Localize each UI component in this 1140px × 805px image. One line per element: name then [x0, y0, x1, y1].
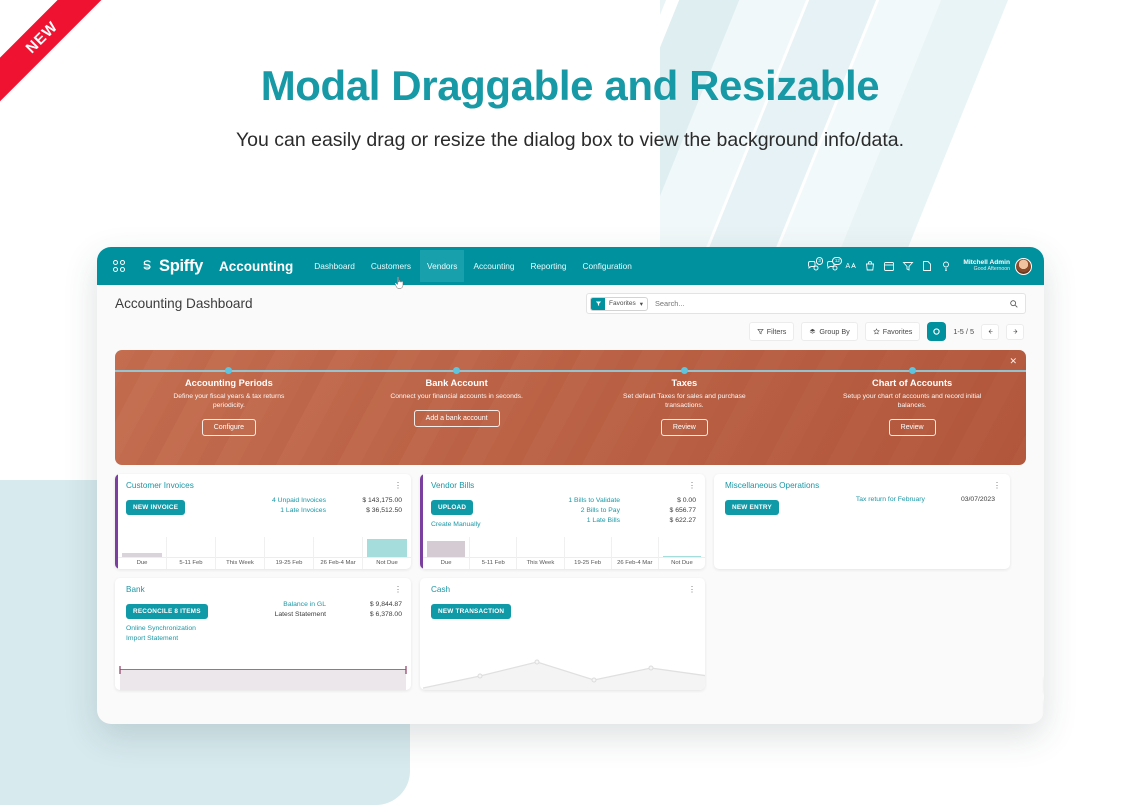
misc-entry-label[interactable]: Tax return for February: [856, 496, 925, 503]
translate-icon[interactable]: A: [845, 260, 857, 272]
step-desc: Define your fiscal years & tax returns p…: [159, 392, 299, 410]
kebab-menu-icon[interactable]: ⋮: [993, 483, 1001, 488]
card-bank[interactable]: Bank ⋮ RECONCILE 8 ITEMS Online Synchron…: [115, 578, 411, 690]
card-title: Bank: [126, 585, 145, 594]
new-ribbon: NEW: [0, 0, 118, 118]
stat-labels: 4 Unpaid Invoices 1 Late Invoices: [202, 496, 340, 516]
new-invoice-button[interactable]: NEW INVOICE: [126, 500, 185, 515]
stat-label[interactable]: 4 Unpaid Invoices: [202, 496, 326, 506]
onboarding-steps: Accounting Periods Define your fiscal ye…: [115, 350, 1026, 465]
search-facet-favorites[interactable]: Favorites ▾: [590, 297, 648, 311]
card-body: NEW ENTRY Tax return for February 03/07/…: [714, 490, 1010, 515]
kanban-view-icon[interactable]: [927, 322, 946, 341]
chart-customer-invoices: Due 5-11 Feb This Week 19-25 Feb 26 Feb-…: [118, 537, 411, 569]
stat-value: $ 9,844.87: [340, 600, 402, 610]
step-desc: Setup your chart of accounts and record …: [842, 392, 982, 410]
bar-label: 5-11 Feb: [470, 557, 516, 569]
stat-value: $ 622.27: [634, 516, 696, 526]
card-header: Bank ⋮: [115, 578, 411, 594]
stat-label[interactable]: 1 Late Invoices: [202, 506, 326, 516]
bar-label: 26 Feb-4 Mar: [314, 557, 362, 569]
stat-label[interactable]: 1 Late Bills: [496, 516, 620, 526]
bar-column: 26 Feb-4 Mar: [314, 537, 363, 569]
card-links: Create Manually: [431, 520, 481, 530]
search-input[interactable]: [648, 299, 1009, 308]
bar-column: Due: [423, 537, 470, 569]
step-desc: Connect your financial accounts in secon…: [387, 392, 527, 401]
previous-page-button[interactable]: [981, 324, 999, 340]
card-vendor-bills[interactable]: Vendor Bills ⋮ UPLOAD Create Manually 1 …: [420, 474, 705, 569]
stat-label[interactable]: 1 Bills to Validate: [496, 496, 620, 506]
apps-grid-icon[interactable]: [113, 260, 125, 272]
stat-values: $ 0.00 $ 656.77 $ 622.27: [634, 496, 696, 530]
nav-item-configuration[interactable]: Configuration: [576, 250, 639, 282]
nav-item-vendors[interactable]: Vendors: [420, 250, 464, 282]
bar-column: 19-25 Feb: [265, 537, 314, 569]
stat-label[interactable]: 2 Bills to Pay: [496, 506, 620, 516]
messages-badge: 3: [816, 257, 824, 265]
step-title: Accounting Periods: [115, 378, 343, 388]
step-dot: [681, 367, 688, 374]
breadcrumb: Accounting Dashboard: [115, 296, 253, 311]
step-title: Bank Account: [343, 378, 571, 388]
star-icon: [873, 328, 880, 335]
chevron-down-icon[interactable]: ▾: [640, 300, 647, 308]
bar-label: Due: [423, 557, 469, 569]
bar-label: This Week: [517, 557, 563, 569]
nav-item-dashboard[interactable]: Dashboard: [307, 250, 362, 282]
arrow-right-icon: [1012, 328, 1019, 335]
bar-label: 26 Feb-4 Mar: [612, 557, 658, 569]
online-synchronization-link[interactable]: Online Synchronization: [126, 624, 208, 634]
bar-column: 5-11 Feb: [470, 537, 517, 569]
bar-label: 19-25 Feb: [565, 557, 611, 569]
card-title: Vendor Bills: [431, 481, 474, 490]
user-menu[interactable]: Mitchell Admin Good Afternoon: [963, 258, 1032, 275]
search-facet-label: Favorites: [605, 300, 640, 307]
card-header: Customer Invoices ⋮: [115, 474, 411, 490]
search-bar[interactable]: Favorites ▾: [586, 293, 1026, 314]
card-miscellaneous-operations[interactable]: Miscellaneous Operations ⋮ NEW ENTRY Tax…: [714, 474, 1010, 569]
onboarding-step-chart-of-accounts: Chart of Accounts Setup your chart of ac…: [798, 350, 1026, 465]
bar-column: Not Due: [363, 537, 411, 569]
card-stats: 4 Unpaid Invoices 1 Late Invoices $ 143,…: [202, 496, 402, 516]
dashboard-card-grid: Customer Invoices ⋮ NEW INVOICE 4 Unpaid…: [97, 465, 1044, 690]
card-title: Cash: [431, 585, 450, 594]
bar-label: Not Due: [659, 557, 705, 569]
shopping-bag-icon[interactable]: [864, 260, 876, 272]
nav-item-reporting[interactable]: Reporting: [524, 250, 574, 282]
layers-icon: [809, 328, 816, 335]
mouse-cursor-icon: [393, 276, 405, 290]
configure-button[interactable]: Configure: [202, 419, 256, 436]
bar-label: Not Due: [363, 557, 411, 569]
kebab-menu-icon[interactable]: ⋮: [394, 587, 402, 592]
bar-column: Due: [118, 537, 167, 569]
bar-label: 19-25 Feb: [265, 557, 313, 569]
onboarding-banner: ✕ Accounting Periods Define your fiscal …: [115, 350, 1026, 465]
card-body: RECONCILE 8 ITEMS Online Synchronization…: [115, 594, 411, 643]
kebab-menu-icon[interactable]: ⋮: [394, 483, 402, 488]
card-body: NEW INVOICE 4 Unpaid Invoices 1 Late Inv…: [115, 490, 411, 516]
group-by-button[interactable]: Group By: [801, 322, 857, 341]
upload-button[interactable]: UPLOAD: [431, 500, 473, 515]
bar-column: Not Due: [659, 537, 705, 569]
page-subtitle: You can easily drag or resize the dialog…: [0, 126, 1140, 155]
stat-values: $ 9,844.87 $ 6,378.00: [340, 600, 402, 643]
messages-icon[interactable]: 3: [807, 260, 819, 272]
stat-value: $ 36,512.50: [340, 506, 402, 516]
bar-column: 26 Feb-4 Mar: [612, 537, 659, 569]
onboarding-step-bank-account: Bank Account Connect your financial acco…: [343, 350, 571, 465]
funnel-icon: [591, 298, 605, 310]
control-panel: Accounting Dashboard Favorites ▾ Filters: [97, 285, 1044, 341]
activities-badge: 12: [832, 257, 842, 265]
brand-logo[interactable]: Spiffy: [138, 257, 203, 276]
funnel-icon[interactable]: [902, 260, 914, 272]
stat-value: $ 0.00: [634, 496, 696, 506]
kebab-menu-icon[interactable]: ⋮: [688, 483, 696, 488]
navbar-right: 3 12 A: [807, 258, 1044, 275]
step-dot: [909, 367, 916, 374]
reconcile-items-button[interactable]: RECONCILE 8 ITEMS: [126, 604, 208, 619]
card-title: Miscellaneous Operations: [725, 481, 819, 490]
bar-label: Due: [118, 557, 166, 569]
note-icon[interactable]: [921, 260, 933, 272]
card-cash[interactable]: Cash ⋮ NEW TRANSACTION: [420, 578, 705, 690]
svg-text:A: A: [846, 263, 851, 270]
user-greeting: Good Afternoon: [963, 267, 1010, 273]
kebab-menu-icon[interactable]: ⋮: [688, 587, 696, 592]
chart-bank-line: [118, 664, 408, 690]
review-accounts-button[interactable]: Review: [889, 419, 936, 436]
avatar[interactable]: [1015, 258, 1032, 275]
stat-value: $ 143,175.00: [340, 496, 402, 506]
onboarding-step-taxes: Taxes Set default Taxes for sales and pu…: [571, 350, 799, 465]
new-ribbon-label: NEW: [0, 0, 118, 118]
next-page-button[interactable]: [1006, 324, 1024, 340]
stat-label[interactable]: Balance in GL: [208, 600, 326, 610]
misc-entry-date: 03/07/2023: [961, 496, 995, 503]
app-window: Spiffy Accounting Dashboard Customers Ve…: [97, 247, 1044, 724]
card-stats: Balance in GL Latest Statement $ 9,844.8…: [208, 600, 402, 643]
activities-icon[interactable]: 12: [826, 260, 838, 272]
bar-label: This Week: [216, 557, 264, 569]
control-row-bottom: Filters Group By Favorites 1-5 / 5: [115, 322, 1026, 341]
bar-column: This Week: [216, 537, 265, 569]
favorites-label: Favorites: [883, 327, 913, 336]
card-header: Vendor Bills ⋮: [420, 474, 705, 490]
navbar-menu: Dashboard Customers Vendors Accounting R…: [307, 250, 639, 282]
filters-button[interactable]: Filters: [749, 322, 795, 341]
card-header: Cash ⋮: [420, 578, 705, 594]
step-dot: [225, 367, 232, 374]
chart-vendor-bills: Due 5-11 Feb This Week 19-25 Feb 26 Feb-…: [423, 537, 705, 569]
card-stats: 1 Bills to Validate 2 Bills to Pay 1 Lat…: [496, 496, 696, 530]
stat-labels: 1 Bills to Validate 2 Bills to Pay 1 Lat…: [496, 496, 634, 530]
card-links: Online Synchronization Import Statement: [126, 624, 208, 643]
navbar-left: Spiffy Accounting: [107, 257, 293, 276]
page-title: Modal Draggable and Resizable: [0, 62, 1140, 110]
card-body: NEW TRANSACTION: [420, 594, 705, 619]
step-dot: [453, 367, 460, 374]
stat-values: $ 143,175.00 $ 36,512.50: [340, 496, 402, 516]
nav-item-accounting[interactable]: Accounting: [466, 250, 521, 282]
arrow-left-icon: [987, 328, 994, 335]
brand-text: Spiffy: [159, 257, 203, 276]
stat-value: $ 656.77: [634, 506, 696, 516]
step-title: Chart of Accounts: [798, 378, 1026, 388]
app-name: Accounting: [219, 259, 293, 274]
card-header: Miscellaneous Operations ⋮: [714, 474, 1010, 490]
spiffy-swirl-icon: [138, 258, 155, 275]
stat-label: Latest Statement: [208, 610, 326, 620]
favorites-button[interactable]: Favorites: [865, 322, 921, 341]
chart-cash-area: [423, 648, 705, 690]
create-manually-link[interactable]: Create Manually: [431, 520, 481, 530]
bar-column: This Week: [517, 537, 564, 569]
review-taxes-button[interactable]: Review: [661, 419, 708, 436]
funnel-icon: [757, 328, 764, 335]
step-desc: Set default Taxes for sales and purchase…: [614, 392, 754, 410]
bar-column: 19-25 Feb: [565, 537, 612, 569]
stat-value: $ 6,378.00: [340, 610, 402, 620]
stat-labels: Balance in GL Latest Statement: [208, 600, 340, 643]
filters-label: Filters: [767, 327, 787, 336]
card-body: UPLOAD Create Manually 1 Bills to Valida…: [420, 490, 705, 530]
add-bank-account-button[interactable]: Add a bank account: [414, 410, 500, 427]
user-text: Mitchell Admin Good Afternoon: [963, 259, 1010, 273]
calendar-icon[interactable]: [883, 260, 895, 272]
bar-label: 5-11 Feb: [167, 557, 215, 569]
nav-item-customers[interactable]: Customers: [364, 250, 418, 282]
search-icon[interactable]: [1009, 299, 1019, 309]
headline-block: Modal Draggable and Resizable You can ea…: [0, 62, 1140, 155]
card-title: Customer Invoices: [126, 481, 194, 490]
card-customer-invoices[interactable]: Customer Invoices ⋮ NEW INVOICE 4 Unpaid…: [115, 474, 411, 569]
control-row-top: Accounting Dashboard Favorites ▾: [115, 293, 1026, 314]
import-statement-link[interactable]: Import Statement: [126, 634, 208, 644]
new-transaction-button[interactable]: NEW TRANSACTION: [431, 604, 511, 619]
misc-entry-row: Tax return for February 03/07/2023: [856, 496, 1001, 515]
group-by-label: Group By: [819, 327, 849, 336]
onboarding-step-accounting-periods: Accounting Periods Define your fiscal ye…: [115, 350, 343, 465]
step-title: Taxes: [571, 378, 799, 388]
lightbulb-icon[interactable]: [940, 260, 952, 272]
navbar: Spiffy Accounting Dashboard Customers Ve…: [97, 247, 1044, 285]
new-entry-button[interactable]: NEW ENTRY: [725, 500, 779, 515]
record-pager: 1-5 / 5: [953, 327, 974, 336]
bar-column: 5-11 Feb: [167, 537, 216, 569]
